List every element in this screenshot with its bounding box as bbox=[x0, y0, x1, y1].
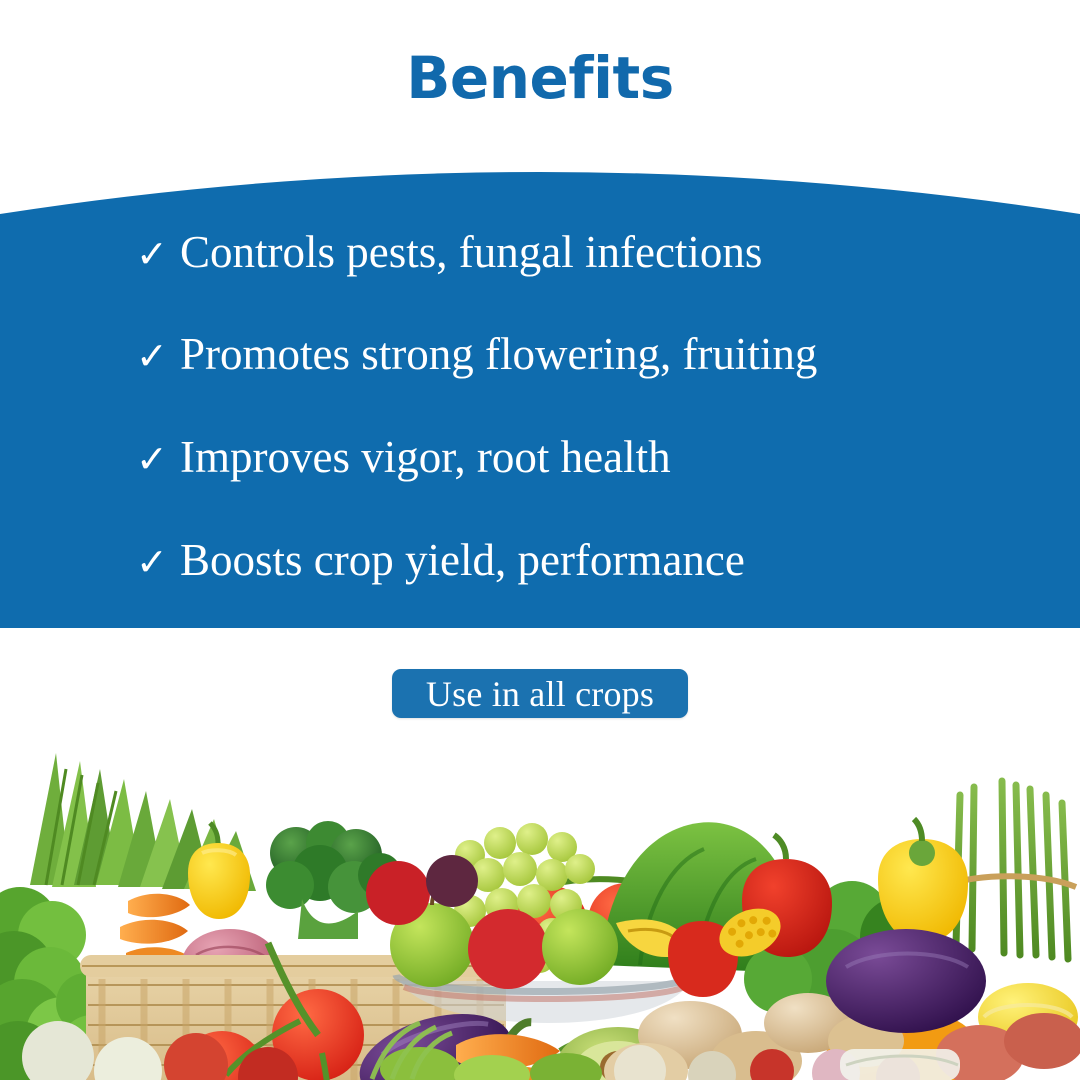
list-item-label: Promotes strong flowering, fruiting bbox=[180, 332, 817, 377]
list-item: ✓ Controls pests, fungal infections bbox=[136, 230, 762, 275]
benefits-infographic: Benefits ✓ Controls pests, fungal infect… bbox=[0, 0, 1080, 1080]
list-item: ✓ Promotes strong flowering, fruiting bbox=[136, 332, 817, 377]
benefits-panel: ✓ Controls pests, fungal infections ✓ Pr… bbox=[0, 140, 1080, 630]
list-item-label: Controls pests, fungal infections bbox=[180, 230, 762, 275]
list-item: ✓ Improves vigor, root health bbox=[136, 435, 671, 480]
check-icon: ✓ bbox=[136, 235, 180, 273]
check-icon: ✓ bbox=[136, 440, 180, 478]
benefits-list: ✓ Controls pests, fungal infections ✓ Pr… bbox=[0, 140, 1080, 630]
check-icon: ✓ bbox=[136, 337, 180, 375]
list-item: ✓ Boosts crop yield, performance bbox=[136, 538, 745, 583]
list-item-label: Improves vigor, root health bbox=[180, 435, 671, 480]
page-title: Benefits bbox=[0, 48, 1080, 109]
produce-photo bbox=[0, 735, 1080, 1080]
list-item-label: Boosts crop yield, performance bbox=[180, 538, 745, 583]
status-badge-label: Use in all crops bbox=[426, 676, 654, 712]
status-badge: Use in all crops bbox=[392, 669, 688, 718]
check-icon: ✓ bbox=[136, 543, 180, 581]
produce-illustration bbox=[0, 735, 1080, 1080]
